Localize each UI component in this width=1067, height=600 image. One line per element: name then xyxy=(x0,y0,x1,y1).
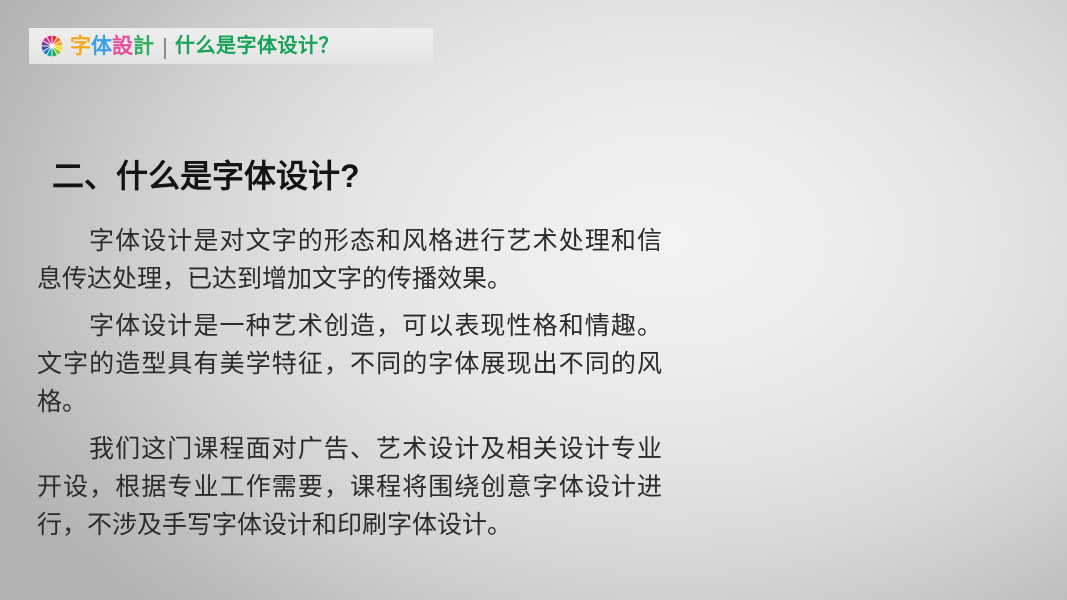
slide-canvas: 字体設計 什么是字体设计？ 二、什么是字体设计? 字体设计是对文字的形态和风格进… xyxy=(0,0,1067,600)
body-paragraph-3: 我们这门课程面对广告、艺术设计及相关设计专业开设，根据专业工作需要，课程将围绕创… xyxy=(37,430,662,544)
body-paragraph-2: 字体设计是一种艺术创造，可以表现性格和情趣。文字的造型具有美学特征，不同的字体展… xyxy=(37,307,662,421)
page-title: 二、什么是字体设计? xyxy=(52,157,360,195)
body-text-block: 字体设计是对文字的形态和风格进行艺术处理和信息传达处理，已达到增加文字的传播效果… xyxy=(37,222,662,544)
slide-content: 二、什么是字体设计? 字体设计是对文字的形态和风格进行艺术处理和信息传达处理，已… xyxy=(0,0,1067,600)
body-paragraph-1: 字体设计是对文字的形态和风格进行艺术处理和信息传达处理，已达到增加文字的传播效果… xyxy=(37,222,662,298)
